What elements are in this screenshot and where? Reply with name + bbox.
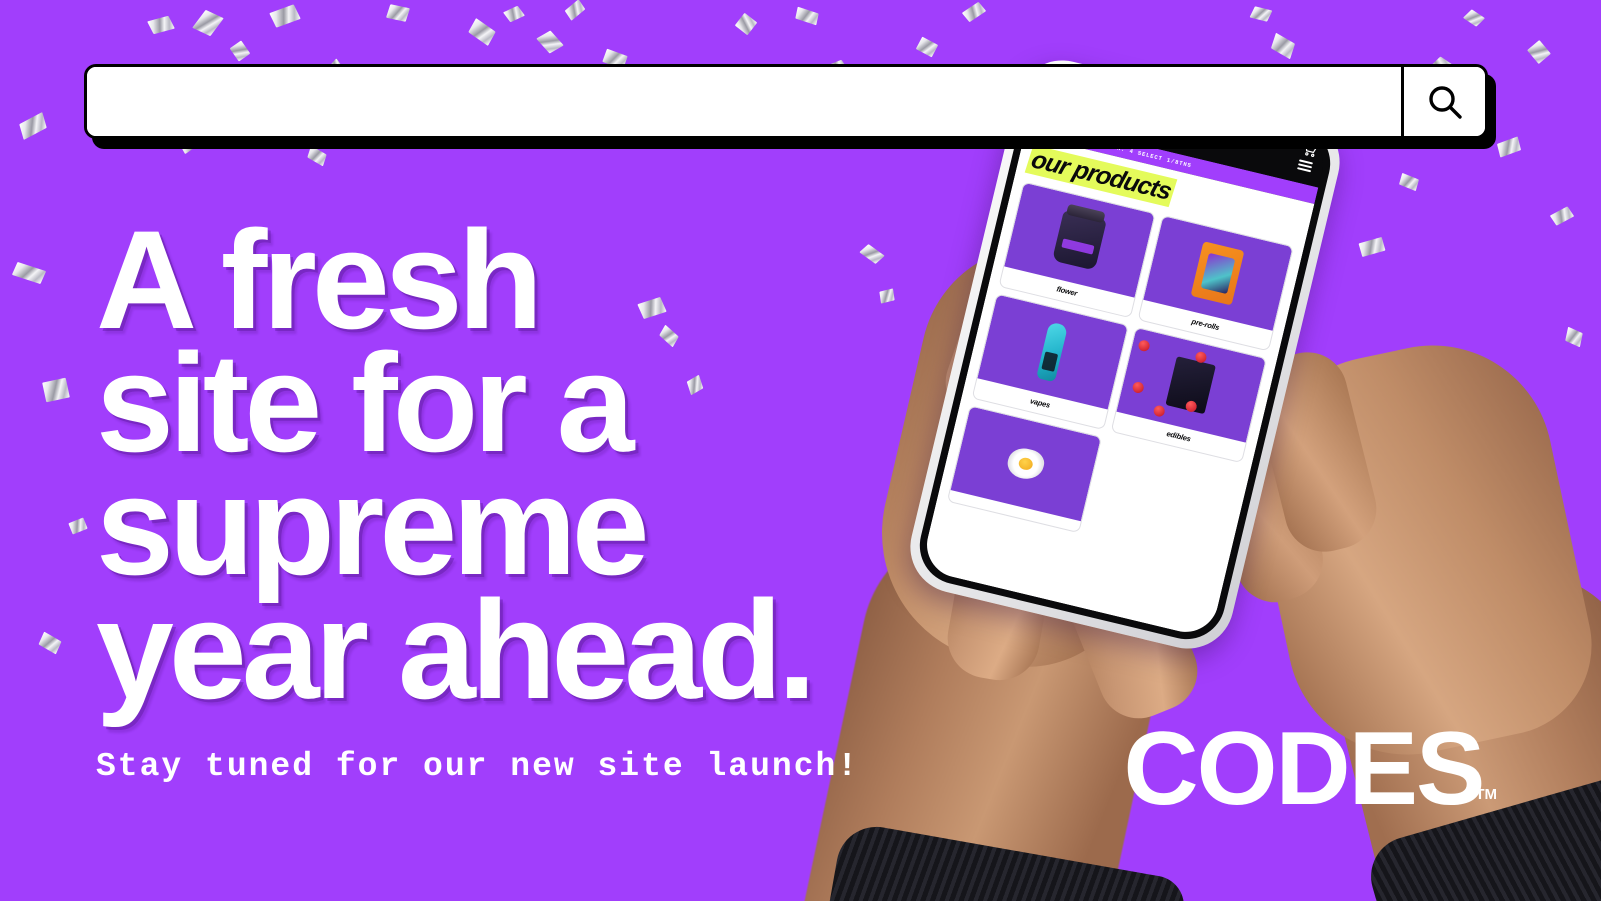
search-bar — [84, 64, 1488, 139]
confetti-piece — [147, 16, 175, 34]
confetti-piece — [1463, 9, 1485, 26]
confetti-piece — [962, 2, 986, 22]
search-icon — [1425, 82, 1465, 122]
product-card[interactable]: vapes — [972, 293, 1129, 430]
headline-line-1: A fresh — [96, 218, 896, 341]
confetti-piece — [735, 13, 757, 35]
confetti-piece — [565, 0, 586, 21]
confetti-piece — [916, 37, 938, 58]
promo-banner: You're Shopping St. Louis Dispensary — [0, 0, 1601, 901]
product-grid: flower pre-rolls vapes — [947, 182, 1294, 567]
hero-headline: A fresh site for a supreme year ahead. — [96, 218, 896, 711]
confetti-piece — [68, 517, 87, 534]
headline-line-4: year ahead. — [96, 588, 896, 711]
confetti-piece — [42, 378, 70, 403]
confetti-piece — [1250, 6, 1273, 21]
brand-logo: CODES TM — [1123, 726, 1497, 813]
confetti-piece — [503, 6, 525, 23]
confetti-piece — [269, 4, 300, 27]
confetti-piece — [795, 7, 818, 26]
search-input[interactable] — [87, 67, 1401, 136]
confetti-piece — [19, 112, 46, 140]
confetti-piece — [468, 18, 495, 46]
headline-line-3: supreme — [96, 464, 896, 587]
confetti-piece — [38, 632, 61, 655]
confetti-piece — [12, 262, 46, 284]
product-card[interactable] — [947, 405, 1102, 533]
headline-line-2: site for a — [96, 341, 896, 464]
confetti-piece — [1271, 33, 1295, 60]
product-card[interactable]: pre-rolls — [1137, 215, 1294, 352]
product-card[interactable]: flower — [998, 182, 1155, 319]
confetti-piece — [192, 10, 224, 36]
product-card[interactable]: edibles — [1110, 327, 1267, 464]
confetti-piece — [386, 4, 410, 22]
search-button[interactable] — [1401, 67, 1485, 136]
confetti-piece — [536, 30, 564, 53]
confetti-piece — [230, 40, 251, 61]
brand-wordmark: CODES — [1123, 726, 1483, 813]
hero-tagline: Stay tuned for our new site launch! — [96, 748, 859, 785]
trademark-symbol: TM — [1475, 786, 1497, 803]
